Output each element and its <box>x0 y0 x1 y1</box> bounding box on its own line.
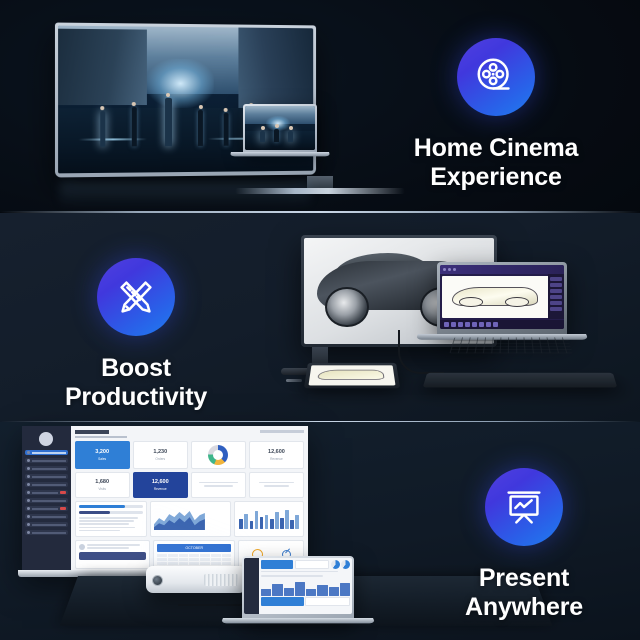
feature-boost-productivity: Boost Productivity <box>36 258 236 412</box>
laptop-stand-dock <box>423 373 618 388</box>
feature-home-cinema: Home Cinema Experience <box>396 38 596 192</box>
feature-caption: Boost Productivity <box>65 354 207 412</box>
app-titlebar <box>440 265 564 274</box>
feature-present-anywhere: Present Anywhere <box>424 468 624 622</box>
caption-line-1: Boost <box>101 354 171 382</box>
laptop-dash-main <box>259 558 352 614</box>
dashboard-header <box>75 430 304 438</box>
sidebar-item-pages[interactable] <box>25 514 68 519</box>
laptop-keyboard <box>449 337 572 353</box>
drawing-tablet <box>304 363 400 388</box>
feature-caption: Present Anywhere <box>465 564 583 622</box>
kpi-card: 12,600 Revenue <box>133 472 188 498</box>
kpi-card: 1,230 Orders <box>133 441 188 469</box>
sidebar-item-maps[interactable] <box>25 498 68 503</box>
laptop-screen <box>245 106 315 150</box>
sidebar-item-widgets[interactable] <box>25 506 68 511</box>
sidebar-item-orders[interactable] <box>25 474 68 479</box>
sidebar-item-users[interactable] <box>25 482 68 487</box>
sidebar-item-docs[interactable] <box>25 522 68 527</box>
kpi-label: Orders <box>155 457 165 461</box>
product-feature-poster: Home Cinema Experience <box>0 0 640 640</box>
sidebar-item-dashboard[interactable] <box>25 450 68 455</box>
kpi-card <box>191 472 246 498</box>
kpi-row: 3,200 Sales 1,230 Orders 12,600 Revenue <box>75 441 304 469</box>
kpi-card: 12,600 Revenue <box>249 441 304 469</box>
caption-line-1: Home Cinema <box>414 134 579 162</box>
bar-chart <box>239 507 299 529</box>
hub-cable <box>398 330 444 374</box>
panel-home-cinema: Home Cinema Experience <box>0 0 640 212</box>
pencil-ruler-icon <box>97 258 175 336</box>
presentation-laptop <box>242 556 354 627</box>
kpi-card <box>191 441 246 469</box>
kpi-label: Visits <box>98 487 106 491</box>
dashboard-sidebar <box>22 426 71 572</box>
kpi-label: Revenue <box>154 487 167 491</box>
caption-line-1: Present <box>479 564 569 592</box>
kpi-value: 12,600 <box>152 480 169 486</box>
avatar <box>79 544 85 550</box>
film-reel-icon <box>457 38 535 116</box>
chat-bubble <box>79 552 147 560</box>
presentation-board-icon <box>485 468 563 546</box>
kpi-value: 1,680 <box>95 480 109 486</box>
kpi-label: Revenue <box>270 457 283 461</box>
projector-lens <box>152 575 163 586</box>
laptop-dash-sidebar <box>244 558 259 614</box>
breadcrumb <box>260 430 304 433</box>
table-reflection <box>60 182 310 208</box>
app-dock <box>440 320 564 329</box>
chat-card <box>75 540 151 569</box>
projector-light-beam <box>150 498 246 576</box>
caption-line-2: Productivity <box>65 383 207 412</box>
kpi-label: Sales <box>98 457 106 461</box>
kpi-value: 12,600 <box>268 450 285 456</box>
sidebar-item-analytics[interactable] <box>25 458 68 463</box>
donut-chart <box>208 445 228 465</box>
kpi-card: 3,200 Sales <box>75 441 130 469</box>
app-canvas <box>442 276 562 318</box>
laptop-dashboard-screen <box>244 558 352 614</box>
design-app-screen <box>440 265 564 329</box>
caption-line-2: Experience <box>414 163 579 192</box>
app-tool-panel <box>548 274 564 319</box>
tablet-screen-sketch <box>308 365 395 385</box>
feature-caption: Home Cinema Experience <box>414 134 579 192</box>
kpi-value: 1,230 <box>153 450 167 456</box>
sidebar-item-settings[interactable] <box>25 530 68 535</box>
design-laptop <box>437 262 567 344</box>
kpi-value: 3,200 <box>95 450 109 456</box>
stylus-pen <box>286 379 302 382</box>
caption-line-2: Anywhere <box>465 593 583 622</box>
kpi-card <box>249 472 304 498</box>
sidebar-item-ui[interactable] <box>25 490 68 495</box>
sidebar-item-sales[interactable] <box>25 466 68 471</box>
avatar <box>39 432 53 446</box>
progress-card <box>75 501 148 537</box>
laptop-mirroring-tv <box>243 104 317 159</box>
kpi-card: 1,680 Visits <box>75 472 130 498</box>
